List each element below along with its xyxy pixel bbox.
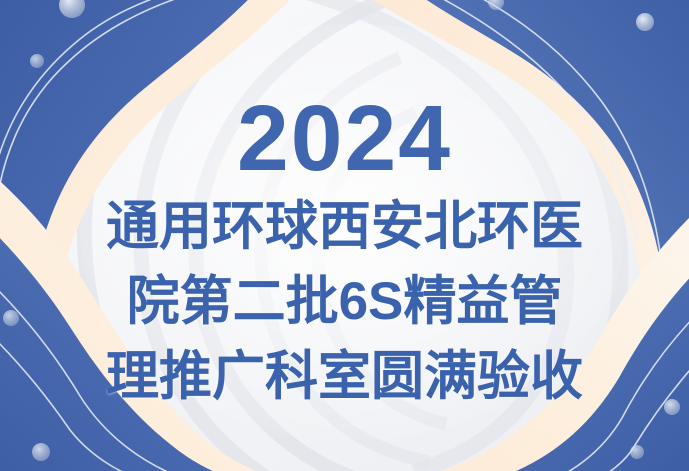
headline-line-1: 通用环球西安北环医 bbox=[106, 189, 583, 264]
headline-line-3: 理推广科室圆满验收 bbox=[106, 339, 583, 414]
headline-block: 通用环球西安北环医 院第二批6S精益管 理推广科室圆满验收 bbox=[106, 189, 583, 415]
poster-content: 2024 通用环球西安北环医 院第二批6S精益管 理推广科室圆满验收 bbox=[0, 0, 689, 471]
year-heading: 2024 bbox=[237, 96, 452, 182]
headline-line-2: 院第二批6S精益管 bbox=[127, 264, 563, 339]
poster-canvas: 2024 通用环球西安北环医 院第二批6S精益管 理推广科室圆满验收 bbox=[0, 0, 689, 471]
